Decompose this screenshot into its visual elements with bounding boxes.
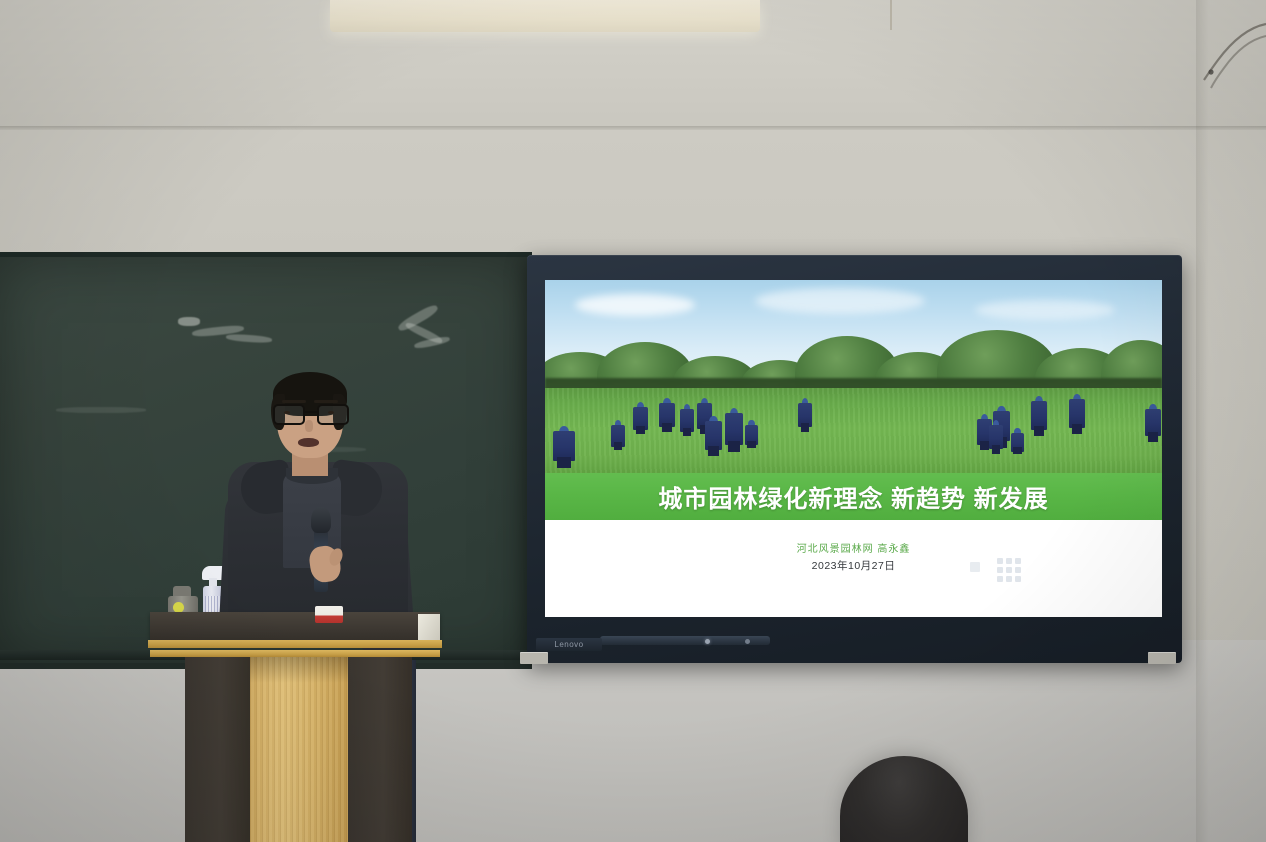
student-figure (659, 398, 675, 432)
student-figure (633, 402, 648, 434)
student-figure (553, 426, 575, 468)
presenter-eye-left (284, 411, 290, 414)
lectern-top-edge (418, 614, 440, 642)
lectern-trim-upper (148, 640, 442, 648)
student-figure (680, 404, 694, 436)
slide-subtitle-date: 2023年10月27日 (545, 558, 1162, 573)
slide-subtitle-org: 河北风景园林网 高永鑫 (545, 540, 1162, 555)
slide-dot-grid-icon (997, 558, 1021, 582)
lectern-trim-lower (150, 650, 440, 657)
student-figure (989, 420, 1003, 454)
student-figure (745, 420, 758, 448)
slide-decoration-square (970, 562, 980, 572)
slide-photo (545, 280, 1162, 478)
student-figure (1031, 396, 1047, 436)
lectern-card (315, 606, 343, 623)
presenter-brow-right (314, 400, 338, 403)
display-brand-logo: Lenovo (536, 638, 602, 651)
student-figure (1145, 404, 1161, 442)
treeline (545, 334, 1162, 396)
presenter-eye-right (328, 411, 334, 414)
student-figure (611, 420, 625, 450)
right-wall-column (1196, 0, 1266, 842)
display-mount-foot-right (1148, 652, 1176, 664)
student-figure (725, 408, 743, 452)
classroom-scene: 城市园林绿化新理念 新趋势 新发展 河北风景园林网 高永鑫 2023年10月27… (0, 0, 1266, 842)
slide-title: 城市园林绿化新理念 新趋势 新发展 (658, 479, 1048, 514)
student-figure (1011, 428, 1024, 454)
lectern-panel-shadow (250, 657, 348, 683)
display-sensor-icon (745, 639, 750, 644)
display-led-indicator (705, 639, 710, 644)
slide-title-banner: 城市园林绿化新理念 新趋势 新发展 (545, 473, 1162, 520)
microphone-icon (311, 507, 331, 533)
student-figure (798, 398, 812, 432)
presenter-mouth (298, 438, 319, 447)
presentation-slide: 城市园林绿化新理念 新趋势 新发展 河北风景园林网 高永鑫 2023年10月27… (545, 280, 1162, 617)
slide-body: 河北风景园林网 高永鑫 2023年10月27日 (545, 520, 1162, 617)
student-figure (1069, 394, 1085, 434)
display-mount-foot-left (520, 652, 548, 664)
lectern-wood-grain (250, 657, 348, 842)
display-screen[interactable]: 城市园林绿化新理念 新趋势 新发展 河北风景园林网 高永鑫 2023年10月27… (545, 280, 1162, 617)
student-figure (705, 416, 722, 456)
lectern-pillar-left (185, 657, 250, 842)
lectern-pillar-right (348, 657, 412, 842)
ceiling-light-icon (330, 0, 760, 32)
presenter-brow-left (282, 400, 306, 403)
lectern-top (150, 612, 440, 642)
light-seam (890, 0, 892, 30)
presenter-nose (305, 420, 313, 432)
